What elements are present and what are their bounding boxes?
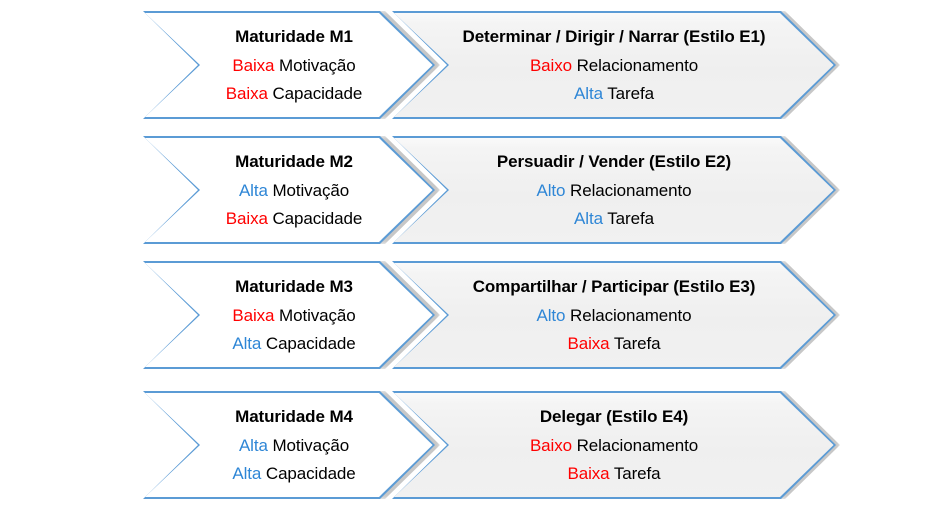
situational-leadership-diagram: Maturidade M1Baixa MotivaçãoBaixa Capaci… (0, 0, 942, 520)
chevron-style-fill (392, 261, 836, 369)
chevron-style-fill (392, 391, 836, 499)
chevron-style[interactable] (392, 391, 836, 499)
maturity-style-row: Maturidade M4Alta MotivaçãoAlta Capacida… (0, 391, 942, 503)
chevron-maturity-fill (143, 261, 435, 369)
chevron-style-fill (392, 11, 836, 119)
chevron-maturity[interactable] (143, 11, 435, 119)
chevron-style-fill (392, 136, 836, 244)
chevron-style[interactable] (392, 11, 836, 119)
maturity-style-row: Maturidade M1Baixa MotivaçãoBaixa Capaci… (0, 11, 942, 123)
chevron-maturity[interactable] (143, 136, 435, 244)
chevron-style[interactable] (392, 136, 836, 244)
chevron-maturity-fill (143, 11, 435, 119)
chevron-maturity-fill (143, 136, 435, 244)
maturity-style-row: Maturidade M3Baixa MotivaçãoAlta Capacid… (0, 261, 942, 373)
maturity-style-row: Maturidade M2Alta MotivaçãoBaixa Capacid… (0, 136, 942, 248)
chevron-maturity[interactable] (143, 391, 435, 499)
chevron-maturity-fill (143, 391, 435, 499)
chevron-maturity[interactable] (143, 261, 435, 369)
chevron-style[interactable] (392, 261, 836, 369)
